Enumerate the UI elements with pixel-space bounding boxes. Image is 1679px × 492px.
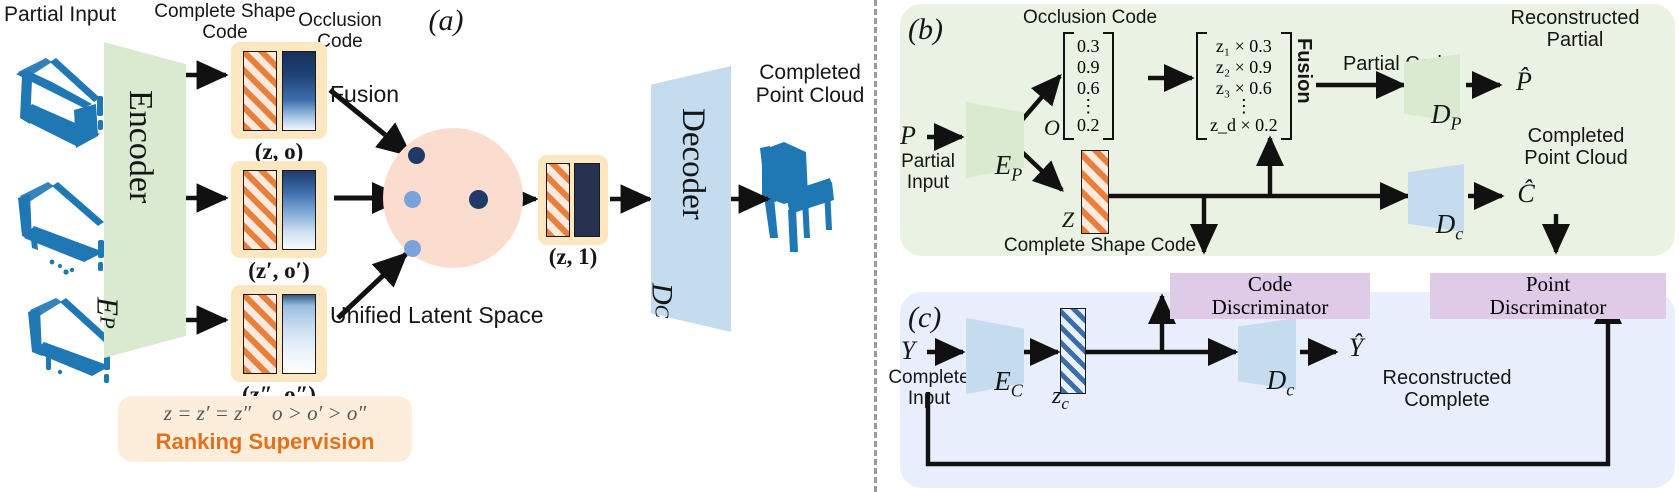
- panel-b-shape-code-symbol: Z: [1056, 208, 1080, 232]
- encoder-label-a: Encoder: [118, 90, 158, 203]
- fused-shape-code-bar: [546, 163, 570, 237]
- panel-b-dp-d: D: [1431, 99, 1451, 129]
- panel-c-decoder-symbol: Dc: [1238, 337, 1296, 429]
- occlusion-code-bar-1: [282, 51, 316, 131]
- panel-c-encoder-e: E: [994, 366, 1011, 396]
- complete-shape-code-title: Complete Shape Code: [150, 2, 300, 43]
- panel-b-dp-sub: P: [1451, 114, 1462, 134]
- panel-c-encoder-symbol: EC: [966, 338, 1024, 430]
- panel-b-occlusion-code-title: Occlusion Code: [990, 8, 1190, 29]
- fused-code-caption: (z, 1): [533, 245, 613, 270]
- unified-latent-space-label: Unified Latent Space: [330, 303, 560, 328]
- latent-dot-occluded-mid: [404, 191, 421, 208]
- point-discriminator-label: Point Discriminator: [1490, 273, 1607, 318]
- matrix-bracket-left: [1063, 32, 1074, 140]
- panel-b-occlusion-vector-name: O: [1040, 116, 1064, 140]
- occlusion-value: 0.3: [1077, 36, 1100, 57]
- occlusion-value: 0.9: [1077, 57, 1100, 78]
- code-discriminator-label: Code Discriminator: [1212, 273, 1329, 318]
- partial-input-cloud-1: [16, 58, 103, 148]
- panel-b-decoder-partial-symbol: DP: [1404, 71, 1460, 163]
- fusion-bracket-left: [1196, 32, 1207, 140]
- decoder-label-a: Decoder: [670, 108, 710, 220]
- panel-c-latent-symbol: zc: [1028, 358, 1064, 439]
- panel-b-dc-sub: c: [1455, 224, 1463, 244]
- partial-input-title: Partial Input: [0, 4, 164, 27]
- panel-b-encoder-sub: P: [1011, 165, 1022, 185]
- fusion-row: z₂ × 0.9: [1210, 57, 1278, 78]
- occlusion-code-bar-3: [282, 294, 316, 374]
- figure-root: (a) Partial Input Complete Shape Code Oc…: [0, 0, 1679, 492]
- panel-c-dc-d: D: [1267, 365, 1287, 395]
- latent-dot-occluded-low: [404, 240, 421, 257]
- panel-b-encoder-e: E: [995, 150, 1012, 180]
- panel-b-completed-symbol: Ĉ: [1506, 180, 1546, 208]
- fusion-row: ⋮: [1210, 99, 1278, 114]
- occlusion-value: ⋮: [1077, 99, 1100, 114]
- panel-b-input-symbol: P: [888, 122, 928, 150]
- occlusion-value: 0.2: [1077, 115, 1100, 136]
- encoder-symbol-sub: P: [96, 316, 120, 329]
- occlusion-vector-rows: 0.3 0.9 0.6 ⋮ 0.2: [1074, 32, 1103, 140]
- fused-code-bar: [538, 155, 608, 245]
- panel-b-label: (b): [908, 14, 978, 46]
- panel-c-output-symbol: Ŷ: [1338, 334, 1374, 362]
- complete-shape-code-bar-1: [243, 51, 277, 131]
- panel-c-latent-code-bar: [1060, 308, 1086, 394]
- reconstructed-partial-symbol: P̂: [1504, 68, 1544, 96]
- fusion-vector-rows: z₁ × 0.3 z₂ × 0.9 z₃ × 0.6 ⋮ z_d × 0.2: [1207, 32, 1281, 140]
- panel-b-encoder-symbol: EP: [966, 122, 1024, 214]
- panel-b-decoder-complete-symbol: Dc: [1408, 181, 1464, 273]
- code-bar-3: [231, 285, 327, 382]
- encoder-input-arrows: [186, 75, 226, 320]
- latent-dot-fused: [469, 190, 488, 209]
- decoder-symbol-d: D: [646, 283, 679, 305]
- fusion-row: z_d × 0.2: [1210, 115, 1278, 136]
- latent-dot-occluded-high: [408, 147, 425, 164]
- panel-b-completed-point-cloud-title: Completed Point Cloud: [1478, 126, 1674, 169]
- code-caption-2: (z′, o′): [229, 259, 329, 284]
- fusion-row: z₁ × 0.3: [1210, 36, 1278, 57]
- panel-b-partial-input-label: Partial Input: [876, 152, 980, 193]
- complete-shape-code-bar-2: [243, 170, 277, 250]
- panel-b-complete-shape-code-label: Complete Shape Code: [1000, 236, 1200, 257]
- matrix-bracket-right: [1103, 32, 1114, 140]
- fusion-vector-matrix: z₁ × 0.3 z₂ × 0.9 z₃ × 0.6 ⋮ z_d × 0.2: [1196, 32, 1292, 140]
- panel-c-dc-sub: c: [1286, 380, 1294, 400]
- panel-c-encoder-sub: C: [1011, 381, 1023, 401]
- encoder-symbol-a: EP: [118, 266, 158, 329]
- complete-shape-code-bar-3: [243, 294, 277, 374]
- code-discriminator-chip: Code Discriminator: [1170, 273, 1370, 319]
- panel-c-z-sub: c: [1061, 394, 1069, 413]
- panel-c-input-symbol: Y: [890, 337, 926, 365]
- panel-c-reconstructed-complete-label: Reconstructed Complete: [1352, 368, 1542, 411]
- completed-point-cloud-title-a: Completed Point Cloud: [740, 62, 880, 107]
- partial-input-cloud-2: [18, 182, 104, 275]
- reconstructed-partial-title: Reconstructed Partial: [1480, 8, 1670, 51]
- panel-b-fusion-label: Fusion: [1288, 38, 1314, 104]
- decoder-symbol-a: DC: [670, 253, 710, 318]
- encoder-symbol-e: E: [91, 297, 126, 316]
- occlusion-code-bar-2: [282, 170, 316, 250]
- panel-b-dc-d: D: [1436, 209, 1456, 239]
- occlusion-vector-matrix: 0.3 0.9 0.6 ⋮ 0.2: [1063, 32, 1114, 140]
- point-discriminator-chip: Point Discriminator: [1430, 273, 1666, 319]
- fusion-label-a: Fusion: [330, 82, 440, 107]
- panel-b-complete-shape-code-bar: [1081, 150, 1109, 234]
- code-bar-2: [231, 161, 327, 258]
- decoder-symbol-sub: C: [651, 305, 673, 318]
- ranking-supervision-label: Ranking Supervision: [118, 430, 412, 454]
- panel-a-label: (a): [386, 5, 506, 37]
- completed-point-cloud-image: [760, 142, 834, 252]
- ranking-formula: z = z′ = z″ o > o′ > o″: [118, 402, 412, 425]
- fused-occlusion-code-bar: [574, 163, 600, 237]
- code-bar-1: [231, 42, 327, 139]
